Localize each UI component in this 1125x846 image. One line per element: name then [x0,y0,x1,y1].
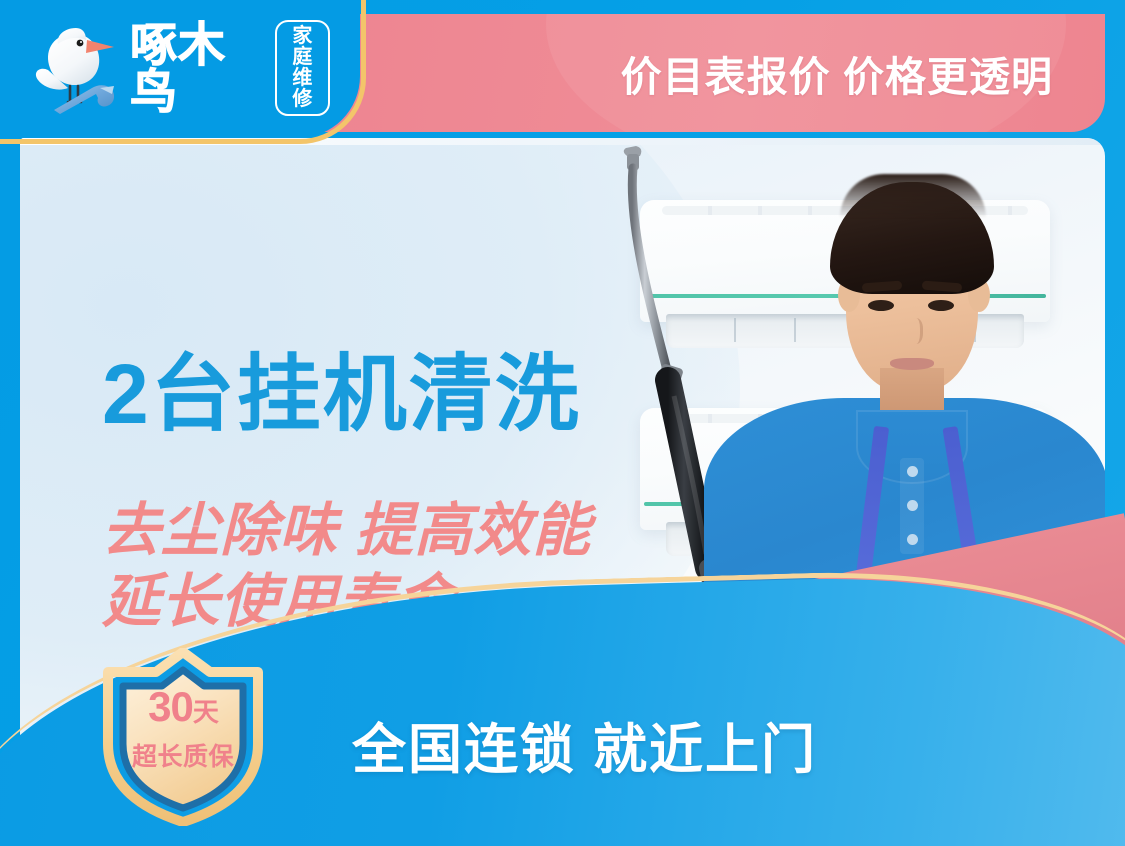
brand-service-badge: 家庭 维修 [275,20,330,115]
header-tagline: 价目表报价 价格更透明 [621,43,1053,103]
technician-hair [830,182,994,294]
brand-logo: 啄木鸟 家庭 维修 [30,18,330,118]
brand-badge-line-2: 维修 [283,68,322,110]
technician-mouth [890,358,934,370]
woodpecker-wrench-logo-icon [30,22,126,114]
footer-slogan: 全国连锁 就近上门 [352,705,817,784]
technician-eye-left [868,300,894,311]
shield-icon [98,648,268,826]
subheadline-line-1: 去尘除味 提高效能 [102,496,591,567]
headline: 2台挂机清洗 [102,350,581,439]
uniform-button [907,534,918,545]
uniform-button [907,466,918,477]
brand-badge-line-1: 家庭 [283,26,322,68]
technician-eye-right [928,300,954,311]
technician-head [828,182,996,394]
brand-wordmark: 啄木鸟 家庭 维修 [130,20,330,115]
technician-nose [906,318,923,344]
warranty-shield-badge: 30天 超长质保 [98,648,268,826]
header-tagline-band: 价目表报价 价格更透明 [306,14,1105,132]
uniform-button [907,500,918,511]
brand-name: 啄木鸟 [130,21,266,115]
advertisement-poster: 啄木鸟 家庭 维修 2台挂机清洗 去尘除味 提高效能 延长使用寿命 全国连锁 就… [0,0,1125,846]
